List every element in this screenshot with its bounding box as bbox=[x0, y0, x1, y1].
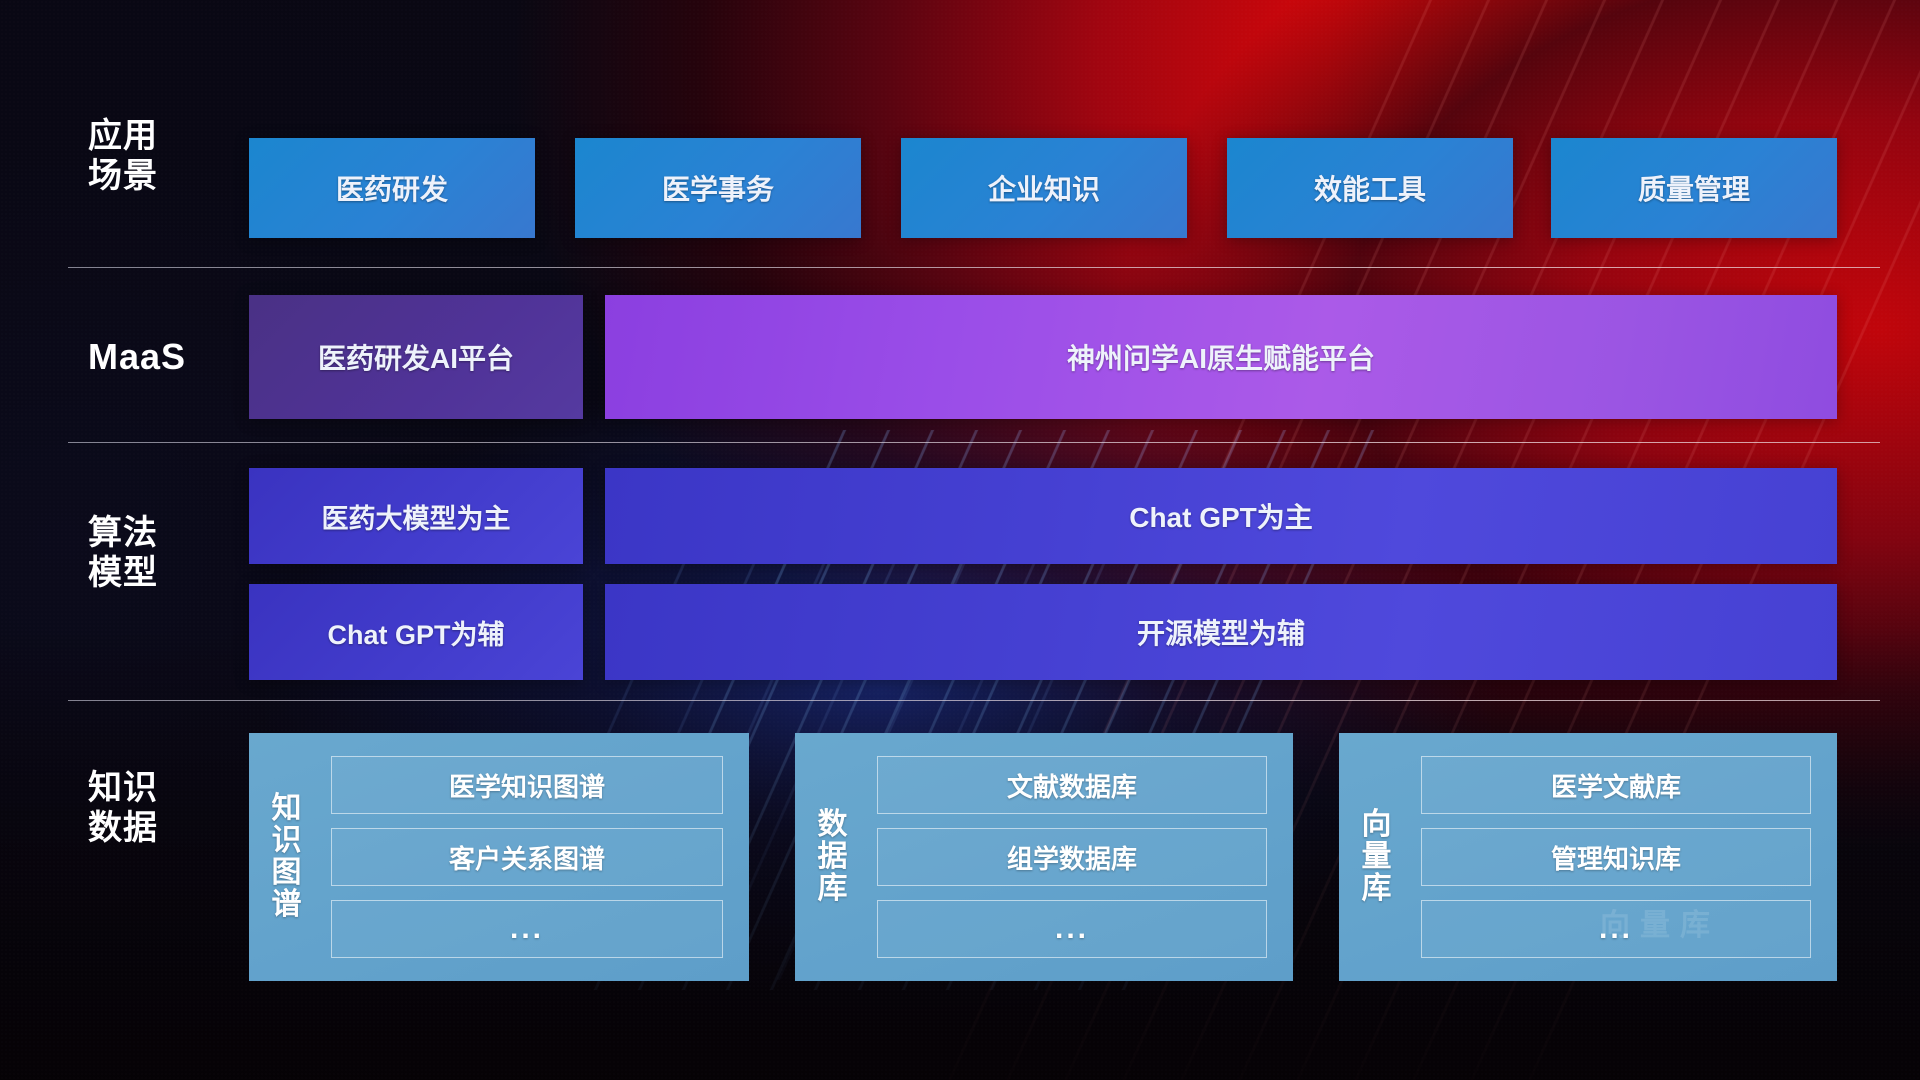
knowledge-card-vector-title-char3: 库 bbox=[1362, 873, 1393, 905]
knowledge-card-graph-item-more[interactable]: ... bbox=[331, 900, 723, 958]
row-label-application: 应用 场景 bbox=[88, 116, 238, 196]
knowledge-card-database[interactable]: 数 据 库 文献数据库 组学数据库 ... bbox=[795, 733, 1293, 981]
row-label-algorithm-line2: 模型 bbox=[88, 553, 238, 593]
app-box-3[interactable]: 企业知识 bbox=[901, 138, 1187, 238]
app-box-2[interactable]: 医学事务 bbox=[575, 138, 861, 238]
knowledge-card-vector-item-1[interactable]: 医学文献库 bbox=[1421, 756, 1811, 814]
app-box-5-label: 质量管理 bbox=[1638, 168, 1750, 208]
knowledge-card-graph-title-char3: 图 bbox=[272, 857, 303, 889]
knowledge-card-vector-item-2[interactable]: 管理知识库 bbox=[1421, 828, 1811, 886]
row-label-algorithm-line1: 算法 bbox=[88, 513, 238, 553]
algo-box-right-secondary[interactable]: 开源模型为辅 bbox=[605, 584, 1837, 680]
knowledge-card-database-item-2[interactable]: 组学数据库 bbox=[877, 828, 1267, 886]
knowledge-card-vector[interactable]: 向 量 库 医学文献库 管理知识库 ... bbox=[1339, 733, 1837, 981]
row-label-maas: MaaS bbox=[88, 336, 238, 378]
row-label-knowledge-line2: 数据 bbox=[88, 808, 238, 848]
row-label-maas-line1: MaaS bbox=[88, 336, 238, 378]
maas-box-shenzhou-platform-label: 神州问学AI原生赋能平台 bbox=[1067, 337, 1375, 377]
app-box-2-label: 医学事务 bbox=[662, 168, 774, 208]
knowledge-card-database-title-char1: 数 bbox=[818, 809, 849, 841]
algo-box-right-secondary-label: 开源模型为辅 bbox=[1137, 612, 1305, 652]
knowledge-card-database-item-more[interactable]: ... bbox=[877, 900, 1267, 958]
knowledge-card-database-title: 数 据 库 bbox=[795, 733, 871, 981]
knowledge-card-graph-title-char2: 识 bbox=[272, 825, 303, 857]
knowledge-card-vector-title-char1: 向 bbox=[1362, 809, 1393, 841]
divider-application-maas bbox=[68, 267, 1880, 268]
knowledge-card-database-items: 文献数据库 组学数据库 ... bbox=[871, 733, 1293, 981]
row-label-application-line2: 场景 bbox=[88, 156, 238, 196]
app-box-1-label: 医药研发 bbox=[336, 168, 448, 208]
divider-maas-algorithm bbox=[68, 442, 1880, 443]
algo-box-left-secondary-label: Chat GPT为辅 bbox=[327, 613, 504, 652]
knowledge-card-vector-title: 向 量 库 bbox=[1339, 733, 1415, 981]
algo-box-left-primary-label: 医药大模型为主 bbox=[322, 497, 511, 536]
algo-box-right-primary[interactable]: Chat GPT为主 bbox=[605, 468, 1837, 564]
knowledge-card-graph-title-char4: 谱 bbox=[272, 889, 303, 921]
app-box-1[interactable]: 医药研发 bbox=[249, 138, 535, 238]
knowledge-card-vector-items: 医学文献库 管理知识库 ... bbox=[1415, 733, 1837, 981]
knowledge-card-vector-item-more[interactable]: ... bbox=[1421, 900, 1811, 958]
divider-algorithm-knowledge bbox=[68, 700, 1880, 701]
app-box-3-label: 企业知识 bbox=[988, 168, 1100, 208]
knowledge-card-database-title-char2: 据 bbox=[818, 841, 849, 873]
row-label-knowledge-line1: 知识 bbox=[88, 768, 238, 808]
knowledge-card-graph-title-char1: 知 bbox=[272, 793, 303, 825]
algo-box-right-primary-label: Chat GPT为主 bbox=[1129, 496, 1313, 536]
knowledge-card-graph-items: 医学知识图谱 客户关系图谱 ... bbox=[325, 733, 749, 981]
knowledge-card-vector-title-char2: 量 bbox=[1362, 841, 1393, 873]
knowledge-card-graph-title: 知 识 图 谱 bbox=[249, 733, 325, 981]
knowledge-card-database-item-1[interactable]: 文献数据库 bbox=[877, 756, 1267, 814]
row-label-algorithm: 算法 模型 bbox=[88, 513, 238, 593]
knowledge-card-graph-item-1[interactable]: 医学知识图谱 bbox=[331, 756, 723, 814]
algo-box-left-secondary[interactable]: Chat GPT为辅 bbox=[249, 584, 583, 680]
knowledge-card-database-title-char3: 库 bbox=[818, 873, 849, 905]
knowledge-card-graph-item-2[interactable]: 客户关系图谱 bbox=[331, 828, 723, 886]
row-label-application-line1: 应用 bbox=[88, 116, 238, 156]
app-box-4[interactable]: 效能工具 bbox=[1227, 138, 1513, 238]
architecture-diagram: 应用 场景 医药研发 医学事务 企业知识 效能工具 质量管理 MaaS 医药研发… bbox=[0, 0, 1920, 1080]
algo-box-left-primary[interactable]: 医药大模型为主 bbox=[249, 468, 583, 564]
knowledge-card-graph[interactable]: 知 识 图 谱 医学知识图谱 客户关系图谱 ... bbox=[249, 733, 749, 981]
maas-box-shenzhou-platform[interactable]: 神州问学AI原生赋能平台 bbox=[605, 295, 1837, 419]
row-label-knowledge: 知识 数据 bbox=[88, 768, 238, 848]
maas-box-pharma-platform-label: 医药研发AI平台 bbox=[318, 337, 514, 377]
app-box-4-label: 效能工具 bbox=[1314, 168, 1426, 208]
app-box-5[interactable]: 质量管理 bbox=[1551, 138, 1837, 238]
maas-box-pharma-platform[interactable]: 医药研发AI平台 bbox=[249, 295, 583, 419]
